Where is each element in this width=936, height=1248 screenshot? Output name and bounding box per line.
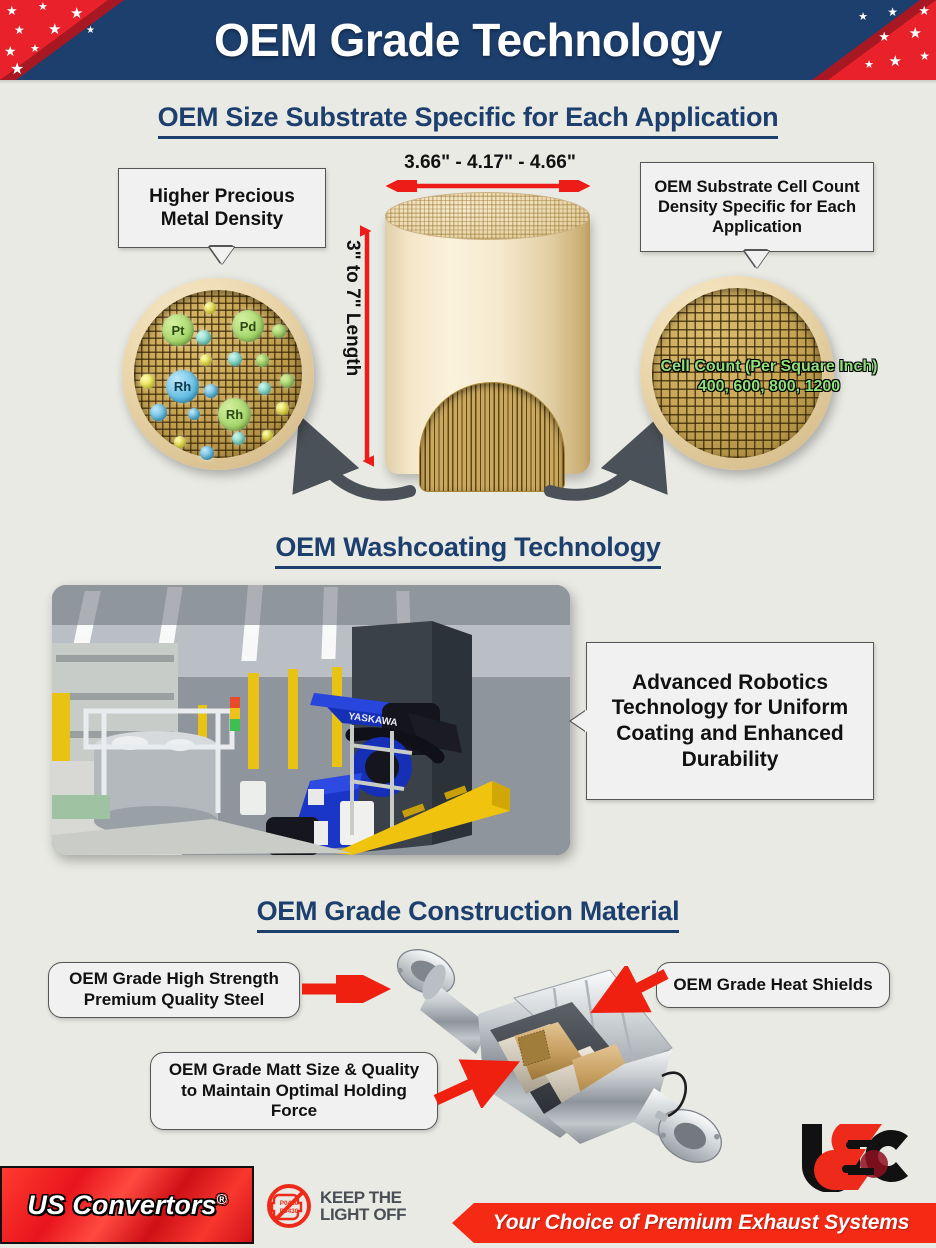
us-convertors-logo-text: US Convertors® bbox=[27, 1190, 226, 1221]
particle-small bbox=[262, 430, 273, 441]
page-title: OEM Grade Technology bbox=[0, 0, 936, 80]
cell-count-line-1: Cell Count (Per Square Inch) bbox=[604, 358, 934, 376]
callout-tail-icon bbox=[571, 710, 587, 732]
arrow-to-matt-icon bbox=[432, 1058, 528, 1108]
callout-matt-size-quality: OEM Grade Matt Size & Quality to Maintai… bbox=[150, 1052, 438, 1130]
particle-small bbox=[204, 302, 216, 314]
section-heading-washcoating: OEM Washcoating Technology bbox=[0, 532, 936, 569]
particle-small bbox=[174, 436, 186, 448]
callout-tail-icon bbox=[210, 247, 234, 264]
particle-rh-green: Rh bbox=[218, 398, 251, 431]
page-header: ★ ★ ★ ★ ★ ★ ★ ★ ★ OEM Grade Technology ★… bbox=[0, 0, 936, 80]
callout-oem-substrate-cell-count: OEM Substrate Cell Count Density Specifi… bbox=[640, 162, 874, 252]
keep-the-light-off-badge: P0420 P0430 KEEP THE LIGHT OFF bbox=[266, 1180, 436, 1232]
substrate-honeycomb-mesh: Pt Pd Rh Rh bbox=[134, 290, 302, 458]
dimension-width-arrow-icon bbox=[382, 180, 594, 192]
callout-higher-precious-metal-density: Higher Precious Metal Density bbox=[118, 168, 326, 248]
callout-advanced-robotics: Advanced Robotics Technology for Uniform… bbox=[586, 642, 874, 800]
particle-small bbox=[196, 330, 211, 345]
particle-small bbox=[200, 446, 214, 460]
callout-tail-icon bbox=[745, 251, 769, 268]
cell-count-line-2: 400, 600, 800, 1200 bbox=[604, 378, 934, 396]
particle-pd: Pd bbox=[232, 310, 264, 342]
callout-premium-quality-steel: OEM Grade High Strength Premium Quality … bbox=[48, 962, 300, 1018]
particle-small bbox=[188, 408, 200, 420]
keep-light-line-1: KEEP THE bbox=[320, 1189, 406, 1206]
callout-text: OEM Grade High Strength Premium Quality … bbox=[57, 969, 291, 1010]
particle-small bbox=[276, 402, 289, 415]
particle-small bbox=[150, 404, 167, 421]
particle-small bbox=[258, 382, 271, 395]
particle-small bbox=[280, 374, 294, 388]
registered-mark: ® bbox=[216, 1191, 226, 1207]
section-heading-substrate: OEM Size Substrate Specific for Each App… bbox=[0, 102, 936, 139]
page-footer: US Convertors® P0420 P0430 KEEP THE LIGH… bbox=[0, 1160, 936, 1248]
washcoating-factory-photo: YASKAWA bbox=[52, 585, 570, 855]
cylinder-top-honeycomb bbox=[385, 192, 590, 240]
callout-heat-shields: OEM Grade Heat Shields bbox=[656, 962, 890, 1008]
no-check-engine-light-icon: P0420 P0430 bbox=[266, 1183, 312, 1229]
callout-text: OEM Grade Heat Shields bbox=[673, 975, 872, 996]
particle-small bbox=[272, 324, 286, 338]
keep-light-off-label: KEEP THE LIGHT OFF bbox=[320, 1189, 406, 1224]
header-divider bbox=[0, 80, 936, 84]
particle-small bbox=[200, 354, 212, 366]
callout-text: Advanced Robotics Technology for Uniform… bbox=[595, 670, 865, 772]
particle-small bbox=[232, 432, 245, 445]
arrow-to-heat-shields-icon bbox=[586, 966, 670, 1022]
callout-text: OEM Grade Matt Size & Quality to Maintai… bbox=[159, 1060, 429, 1122]
arrow-to-steel-icon bbox=[300, 975, 396, 1003]
particle-small bbox=[140, 374, 155, 389]
section-heading-construction: OEM Grade Construction Material bbox=[0, 896, 936, 933]
dimension-length-label: 3" to 7" Length bbox=[313, 240, 363, 376]
us-convertors-logo: US Convertors® bbox=[0, 1166, 254, 1244]
substrate-face-precious-metals: Pt Pd Rh Rh bbox=[122, 278, 314, 470]
particle-small bbox=[204, 384, 218, 398]
particle-pt: Pt bbox=[162, 314, 194, 346]
keep-light-line-2: LIGHT OFF bbox=[320, 1206, 406, 1223]
callout-text: Higher Precious Metal Density bbox=[127, 185, 317, 231]
particle-rh-blue: Rh bbox=[166, 370, 199, 403]
particle-small bbox=[256, 354, 269, 367]
dimension-width-label: 3.66" - 4.17" - 4.66" bbox=[350, 152, 630, 174]
callout-text: OEM Substrate Cell Count Density Specifi… bbox=[649, 177, 865, 237]
factory-robot-illustration: YASKAWA bbox=[52, 585, 570, 855]
connector-arrows-icon bbox=[270, 395, 690, 505]
particle-small bbox=[228, 352, 242, 366]
